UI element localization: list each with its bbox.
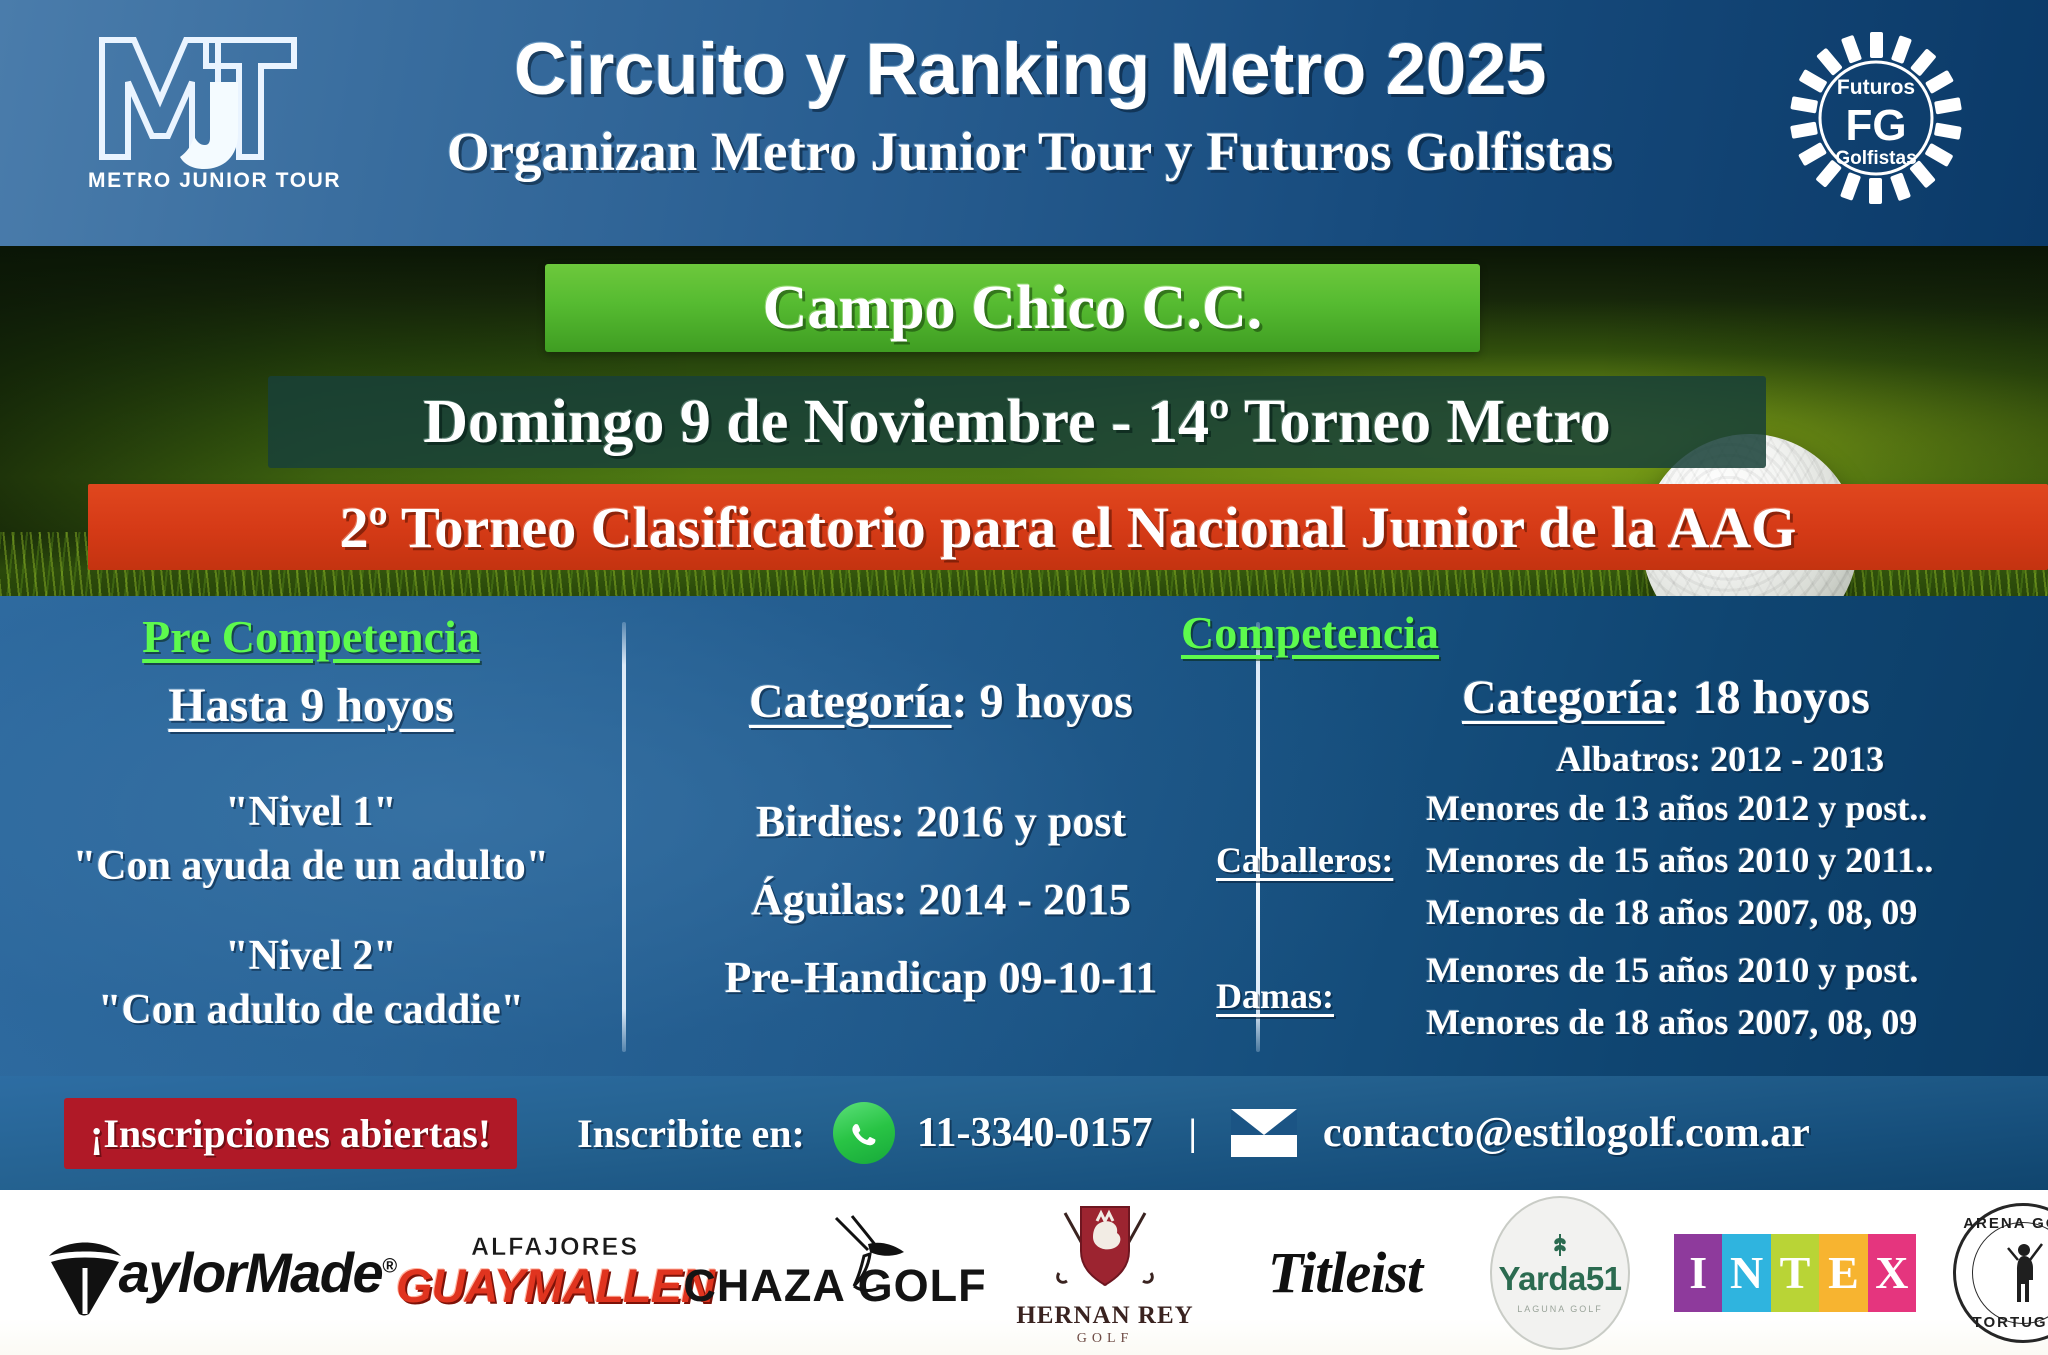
qualifier-text: 2º Torneo Clasificatorio para el Naciona… [340,494,1797,561]
arena-golf-top-label: ARENA GOLF [1956,1215,2048,1232]
damas-row-18: Menores de 18 años 2007, 08, 09 [1426,996,1918,1048]
taylormade-wordmark: aylorMade® [119,1240,396,1305]
wheat-icon [1543,1232,1577,1260]
yarda51-wordmark: Yarda51 [1498,1260,1621,1298]
nivel-2-description: "Con adulto de caddie" [0,986,622,1034]
arena-golf-bottom-label: TORTUGAS [1956,1314,2048,1331]
hernan-rey-crest-icon [1045,1199,1165,1295]
intex-letter-i: I [1674,1234,1722,1312]
caballeros-row-15: Menores de 15 años 2010 y 2011.. [1426,834,1933,886]
sponsor-intex: I N T E X [1660,1190,1930,1355]
header-title-block: Circuito y Ranking Metro 2025 Organizan … [300,28,1760,185]
damas-row-15: Menores de 15 años 2010 y post. [1426,944,1918,996]
caballeros-group: Caballeros: Menores de 13 años 2012 y po… [1216,782,2048,939]
nine-holes-row-aguilas: Águilas: 2014 - 2015 [626,874,1256,925]
albatros-row: Albatros: 2012 - 2013 [1410,738,2030,780]
caballeros-row-13: Menores de 13 años 2012 y post.. [1426,782,1933,834]
caballeros-rows: Menores de 13 años 2012 y post.. Menores… [1426,782,1933,939]
poster-header: METRO JUNIOR TOUR Circuito y Ranking Met… [0,0,2048,246]
page-subtitle: Organizan Metro Junior Tour y Futuros Go… [300,119,1760,185]
nine-holes-row-prehandicap: Pre-Handicap 09-10-11 [626,952,1256,1003]
intex-letter-x: X [1868,1234,1916,1312]
hernan-rey-sub: GOLF [1016,1331,1193,1347]
mjt-wordmark: METRO JUNIOR TOUR [88,169,302,193]
futuros-golfistas-logo: Futuros FG Golfistas [1786,28,1966,208]
date-and-event: Domingo 9 de Noviembre - 14º Torneo Metr… [423,387,1610,458]
caballeros-row-18: Menores de 18 años 2007, 08, 09 [1426,886,1933,938]
caballeros-label: Caballeros: [1216,839,1426,881]
mjt-monogram-icon [88,26,302,171]
taylormade-mark-icon [45,1230,125,1316]
email-icon[interactable] [1231,1109,1297,1157]
nivel-2-title: "Nivel 2" [0,932,622,980]
metro-junior-tour-logo: METRO JUNIOR TOUR [88,26,302,216]
registration-open-badge: ¡Inscripciones abiertas! [64,1098,517,1169]
competencia-heading-wrap: Competencia [1110,606,1510,659]
damas-group: Damas: Menores de 15 años 2010 y post. M… [1216,944,2048,1048]
golfer-silhouette-icon [2000,1240,2046,1306]
venue-name: Campo Chico C.C. [763,273,1262,344]
pre-competencia-subheading: Hasta 9 hoyos [0,678,622,733]
nine-holes-category: Categoría: 9 hoyos [626,674,1256,729]
competencia-heading: Competencia [1181,607,1439,658]
tournament-poster: METRO JUNIOR TOUR Circuito y Ranking Met… [0,0,2048,1355]
eighteen-holes-category-value: : 18 hoyos [1665,671,1870,724]
intex-letter-e: E [1819,1234,1867,1312]
sponsor-strip: aylorMade® ALFAJORES GUAYMALLEN CHAZA GO… [0,1190,2048,1355]
page-title: Circuito y Ranking Metro 2025 [300,28,1760,113]
titleist-wordmark: Titleist [1268,1239,1422,1306]
eighteen-holes-category: Categoría: 18 hoyos [1316,670,2016,725]
contact-separator: | [1189,1111,1197,1155]
svg-text:Golfistas: Golfistas [1835,148,1916,169]
qualifier-banner: 2º Torneo Clasificatorio para el Naciona… [88,484,2048,570]
intex-letter-n: N [1722,1234,1770,1312]
intex-letter-t: T [1771,1234,1819,1312]
yarda51-sub: LAGUNA GOLF [1517,1304,1603,1314]
pre-competencia-heading: Pre Competencia [142,611,480,662]
guaymallen-wordmark: GUAYMALLEN [396,1258,714,1313]
sponsor-hernan-rey-golf: HERNAN REY GOLF [980,1190,1230,1355]
categories-panel: Pre Competencia Hasta 9 hoyos "Nivel 1" … [0,596,2048,1076]
sponsor-guaymallen: ALFAJORES GUAYMALLEN [420,1190,690,1355]
whatsapp-phone-number[interactable]: 11-3340-0157 [917,1109,1153,1157]
whatsapp-icon[interactable] [833,1102,895,1164]
svg-text:FG: FG [1845,101,1906,150]
nine-holes-category-value: : 9 hoyos [952,675,1133,728]
sponsor-titleist: Titleist [1230,1190,1460,1355]
damas-rows: Menores de 15 años 2010 y post. Menores … [1426,944,1918,1048]
hummingbird-icon [812,1212,932,1302]
nine-holes-row-birdies: Birdies: 2016 y post [626,796,1256,847]
intex-logo: I N T E X [1674,1234,1916,1312]
hernan-rey-name: HERNAN REY [1016,1302,1193,1330]
nivel-1-description: "Con ayuda de un adulto" [0,842,622,890]
nine-holes-category-label: Categoría [749,675,952,728]
nivel-1-title: "Nivel 1" [0,788,622,836]
sponsor-yarda51: Yarda51 LAGUNA GOLF [1460,1190,1660,1355]
svg-text:Futuros: Futuros [1837,76,1915,99]
contact-bar: ¡Inscripciones abiertas! Inscribite en: … [0,1076,2048,1190]
sponsor-chaza-golf: CHAZA GOLF [690,1190,980,1355]
damas-label: Damas: [1216,975,1426,1017]
register-prompt-label: Inscribite en: [577,1110,805,1157]
sponsor-taylormade: aylorMade® [0,1190,420,1355]
registration-open-label: ¡Inscripciones abiertas! [90,1111,491,1156]
eighteen-holes-category-label: Categoría [1462,671,1665,724]
date-banner: Domingo 9 de Noviembre - 14º Torneo Metr… [268,376,1766,468]
sponsor-arena-golf: ARENA GOLF TORTUGAS [1930,1190,2048,1355]
venue-banner: Campo Chico C.C. [545,264,1480,352]
contact-email[interactable]: contacto@estilogolf.com.ar [1323,1109,1810,1157]
